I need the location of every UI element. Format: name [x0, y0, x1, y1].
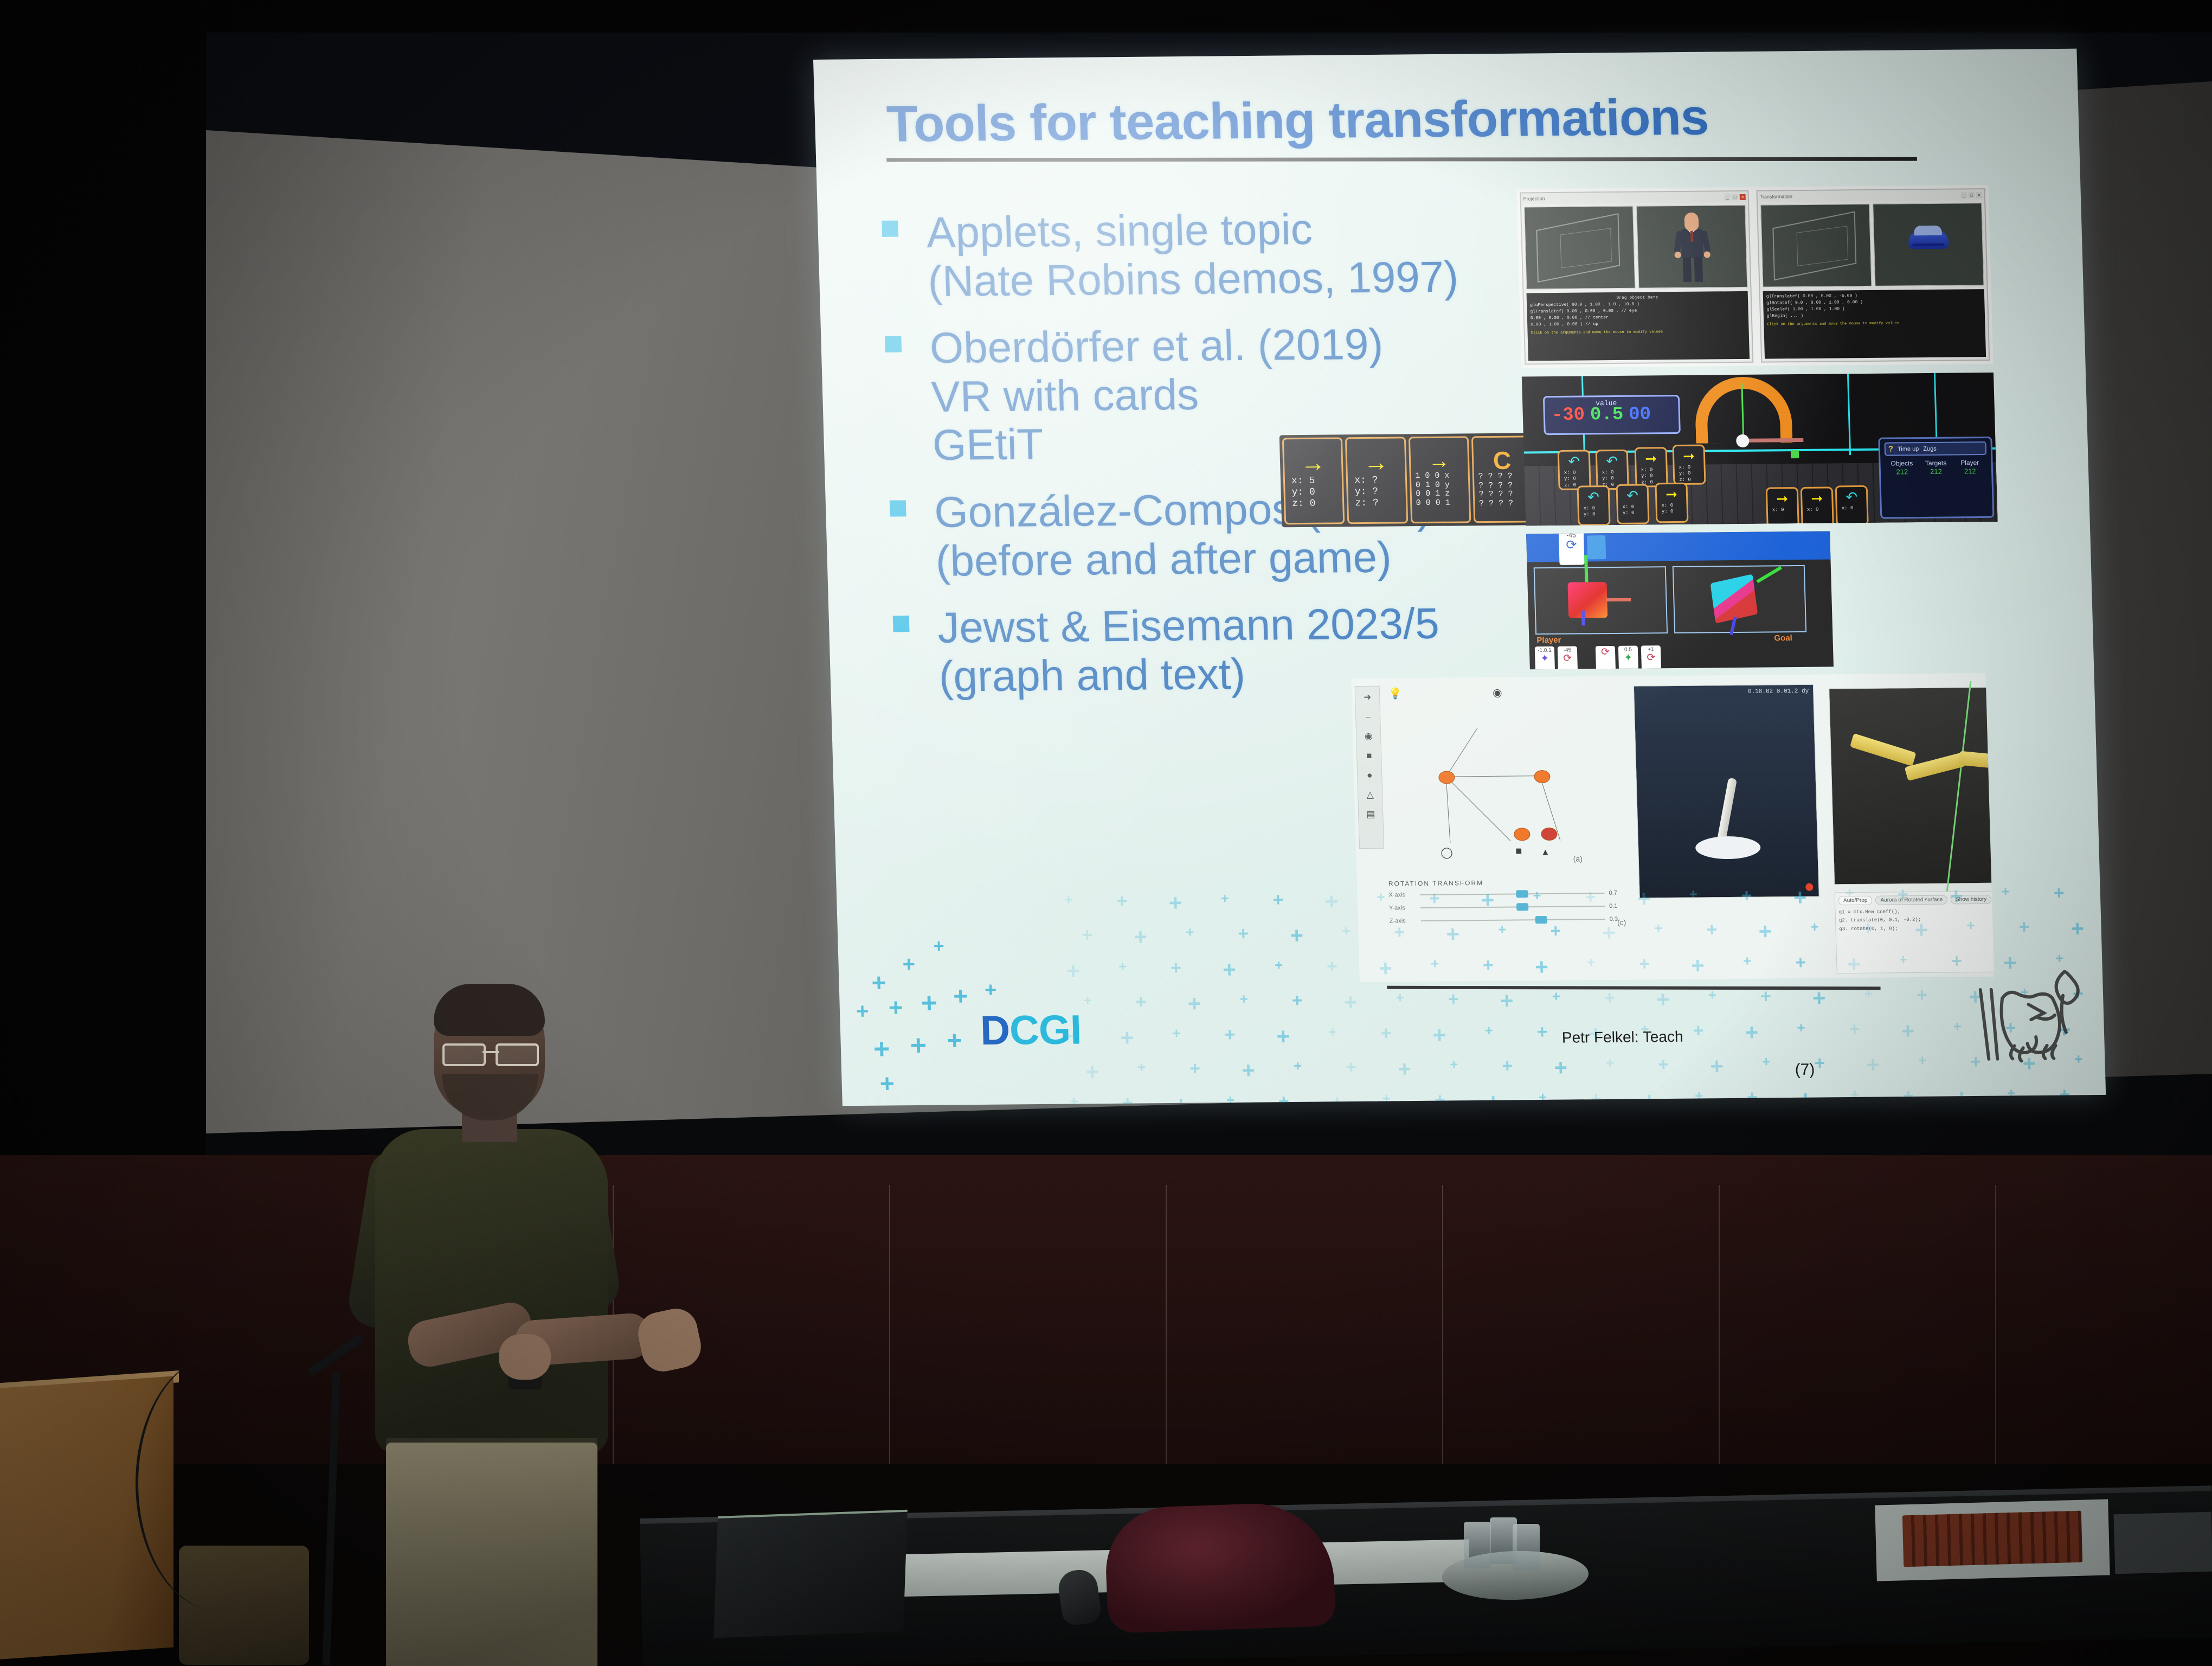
rotate-icon: ↶	[1568, 454, 1580, 469]
plus-glyph: +	[1448, 990, 1459, 1008]
arrow-right-icon: →	[1363, 452, 1388, 472]
plus-glyph: +	[1849, 1020, 1860, 1039]
plus-glyph: +	[1238, 925, 1249, 943]
plus-glyph: +	[1604, 989, 1615, 1007]
hand-card[interactable]: -45⟳	[1558, 646, 1578, 670]
plus-glyph: +	[1552, 989, 1560, 1003]
scoreboard-columns: Objects 212 Targets 212 Player 21	[1885, 459, 1987, 477]
maximize-icon[interactable]: □	[1969, 192, 1975, 198]
camera-node-icon: ◉	[1493, 686, 1502, 700]
napkin	[872, 1549, 1144, 1597]
vr-card[interactable]: ↶ x: 0y: 0	[1616, 484, 1649, 524]
minimize-icon[interactable]: _	[1725, 194, 1731, 200]
window-buttons: _ □ ×	[1961, 192, 1982, 198]
getit-card: → 1 0 0 x 0 1 0 y 0 0 1 z 0 0 0 1	[1408, 436, 1471, 523]
card-row: x: 0	[1622, 504, 1647, 510]
plus-glyph: +	[1656, 988, 1670, 1011]
plus-glyph: +	[2018, 918, 2030, 936]
plus-glyph: +	[1189, 1060, 1201, 1078]
plus-glyph: +	[1291, 991, 1303, 1010]
plus-glyph: +	[1324, 890, 1339, 913]
slider-row: Y-axis 0.1	[1389, 903, 1622, 912]
plus-glyph: +	[1186, 925, 1194, 939]
laptop[interactable]	[713, 1510, 908, 1638]
plus-glyph: +	[1450, 1057, 1458, 1071]
graph-node[interactable]	[1534, 770, 1551, 783]
arrow-right-icon: ➞	[1645, 451, 1657, 465]
plus-glyph: +	[1168, 892, 1182, 914]
matrix-row: 0 0 0 1	[1416, 498, 1467, 508]
combine-icon: C	[1493, 450, 1511, 470]
trousers	[386, 1443, 597, 1666]
plus-glyph: +	[2055, 951, 2064, 965]
chain-segment	[1850, 733, 1917, 766]
vr-card[interactable]: ↶ x: 0y: 0z: 0	[1558, 450, 1591, 490]
plus-glyph: +	[871, 970, 886, 995]
plus-glyph: +	[1918, 1053, 1927, 1067]
plus-glyph: +	[1239, 992, 1248, 1006]
plus-glyph: +	[1082, 926, 1093, 944]
plus-glyph: +	[1085, 1060, 1099, 1083]
plus-glyph: +	[1272, 890, 1284, 909]
plus-glyph: +	[1118, 959, 1127, 973]
plus-glyph: +	[985, 980, 997, 1001]
card-row: x: 0	[1564, 470, 1589, 476]
plus-glyph: +	[1432, 1024, 1446, 1047]
slider-thumb[interactable]	[1516, 903, 1528, 911]
slider-label: X-axis	[1388, 892, 1416, 898]
chocolate-snacks	[1902, 1511, 2082, 1567]
card-row: y: 0	[1623, 510, 1648, 517]
figure-nate-robins-demos: Projection _ □ ×	[1516, 185, 1993, 368]
arrow-right-icon: ➞	[1776, 491, 1789, 505]
tab-autoprop[interactable]: Auto/Prop	[1838, 896, 1873, 906]
card-row: z: 0	[1292, 498, 1341, 509]
eyeglasses-icon	[442, 1043, 539, 1063]
code-line[interactable]: g3. rotate(0, 1, 0);	[1839, 923, 1994, 933]
vr-value-readout: value -30 0.5 00	[1543, 395, 1681, 435]
code-hint: Click on the arguments and move the mous…	[1531, 329, 1745, 336]
matrix-row: 0 1 0 y	[1416, 480, 1467, 490]
hand-card[interactable]: ⟳	[1596, 646, 1616, 669]
card-row: y: 0	[1602, 476, 1627, 482]
hair	[434, 984, 545, 1036]
tab-show-history[interactable]: Show history	[1951, 895, 1992, 905]
hand-card[interactable]: -1.0.1✦	[1535, 646, 1555, 669]
scene-graph-canvas[interactable]: 💡 ◉ ◯ ■ ▴ (a)	[1384, 682, 1622, 863]
box-icon[interactable]: ■	[1366, 751, 1372, 761]
sphere-icon: ◯	[1441, 845, 1453, 859]
projected-slide: Tools for teaching transformations Apple…	[813, 49, 2106, 1106]
matrix-row: ? ? ? ?	[1479, 499, 1530, 508]
subfigure-label: (c)	[1617, 918, 1626, 927]
column-value: 212	[1896, 467, 1908, 476]
getit-card: → x: 5 y: 0 z: 0	[1282, 437, 1345, 524]
plus-glyph: +	[933, 937, 944, 956]
card-row: y: 0	[1291, 486, 1340, 498]
plus-glyph: +	[1328, 1024, 1337, 1039]
column-value: 212	[1964, 467, 1976, 475]
vr-object-bar	[1742, 438, 1803, 443]
scale-icon: ✦	[1540, 653, 1549, 664]
plus-glyph: +	[1137, 1060, 1146, 1074]
plus-glyph: +	[1953, 1019, 1962, 1033]
burgundy-jacket	[1104, 1501, 1336, 1634]
code-panel: Drag object here gluPerspective( 60.0 , …	[1527, 291, 1750, 361]
rotate-icon: ⟳	[1601, 647, 1610, 657]
scoreboard-header: ? Time up Zugs	[1884, 441, 1986, 456]
empty-card-slot[interactable]	[1587, 535, 1606, 559]
game-viewports	[1534, 565, 1807, 635]
plus-glyph: +	[888, 995, 903, 1020]
viewport-eye-view	[1760, 204, 1872, 287]
column-label: Player	[1953, 459, 1987, 467]
matrix-row: 1 0 0 x	[1415, 471, 1466, 480]
help-icon[interactable]: ?	[1888, 445, 1894, 454]
vr-card[interactable]: ↶ x: 0	[1835, 485, 1869, 526]
rotation-transform-panel: ROTATION TRANSFORM X-axis 0.7 Y-axis 0.1…	[1388, 878, 1623, 931]
plus-glyph: +	[1172, 1026, 1181, 1040]
tab-bar: Auto/Prop Aurora of Rotated surface Show…	[1838, 894, 1994, 905]
viewports	[1521, 202, 1751, 291]
vr-card[interactable]: ↶ x: 0y: 0	[1577, 485, 1610, 526]
snack-tray	[2114, 1512, 2212, 1574]
card-row: x: 5	[1291, 476, 1340, 487]
card-row: y: 0	[1679, 471, 1704, 477]
plus-glyph: +	[1901, 1020, 1915, 1042]
light-icon: 💡	[1388, 687, 1403, 700]
lamp-arm	[1717, 778, 1737, 843]
vr-card[interactable]: ➞ x: 0	[1801, 486, 1834, 526]
card-row: x: 0	[1807, 507, 1832, 513]
viewport-goal	[1673, 565, 1806, 633]
logo-letter-d: D	[980, 1008, 1010, 1054]
player-hand: -1.0.1✦ -45⟳ ⟳ 0.5✦ +1⟳	[1535, 645, 1661, 669]
torso	[375, 1129, 608, 1454]
slider-track[interactable]	[1420, 893, 1604, 895]
nate-window-transformation: Transformation _ □ × glTranslatef( 0.00 …	[1756, 188, 1990, 363]
card-row: y: 0	[1584, 511, 1609, 518]
matrix-row: ? ? ? ?	[1478, 472, 1529, 482]
plus-glyph: +	[1502, 1056, 1513, 1075]
bullet-line: Applets, single topic	[926, 203, 1539, 257]
hand-card[interactable]: 0.5✦	[1618, 646, 1638, 670]
logo-letters-cgi: CGI	[1009, 1007, 1082, 1053]
plus-glyph: +	[1343, 991, 1358, 1014]
plus-glyph: +	[1380, 1024, 1392, 1042]
viewport-label-goal: Goal	[1774, 633, 1792, 643]
plus-glyph: +	[1812, 986, 1826, 1009]
plus-glyph: +	[902, 953, 915, 975]
getit-card: → x: ? y: ? z: ?	[1345, 437, 1408, 524]
plus-glyph: +	[1500, 989, 1514, 1012]
presenter	[336, 987, 705, 1666]
plus-glyph: +	[1066, 959, 1081, 982]
guide-line	[1946, 681, 1971, 894]
plus-glyph: +	[1760, 987, 1771, 1005]
rotate-icon: ↶	[1587, 490, 1600, 504]
plus-glyph: +	[1120, 1027, 1134, 1049]
viewport-eye-view	[1524, 206, 1635, 290]
plus-glyph: +	[1223, 958, 1237, 981]
plus-glyph: +	[1064, 893, 1073, 907]
bullet-square-icon	[890, 500, 906, 516]
maximize-icon[interactable]: □	[1732, 194, 1738, 200]
beard	[442, 1074, 538, 1120]
plus-glyph: +	[1294, 1059, 1302, 1073]
readout-z: 00	[1629, 404, 1651, 425]
card-row: y: 0	[1564, 476, 1589, 483]
toon-character	[1675, 213, 1709, 283]
slider-thumb[interactable]	[1535, 916, 1547, 924]
arrow-right-icon: →	[1428, 452, 1450, 470]
matrix-row: 0 0 1 z	[1416, 489, 1467, 498]
plus-glyph: +	[1554, 1056, 1568, 1079]
bullet-line: Jewst & Eisemann 2023/5	[937, 598, 1550, 652]
viewport-3d-lamp: 0.18.02 0.01.2 dy	[1634, 684, 1819, 899]
plus-glyph: +	[1396, 990, 1404, 1004]
card-row: y: ?	[1355, 486, 1404, 497]
plus-glyph: +	[1536, 1023, 1548, 1041]
matrix-row: ? ? ? ?	[1478, 481, 1529, 490]
bullet-line: Oberdörfer et al. (2019)	[929, 318, 1542, 372]
viewport-label-player: Player	[1536, 636, 1561, 645]
object-icon: ■	[1515, 845, 1522, 857]
getit-card-strip: → x: 5 y: 0 z: 0 → x: ? y: ? z: ?	[1279, 433, 1537, 527]
plane-icon: ▴	[1542, 845, 1548, 858]
graph-node[interactable]	[1438, 771, 1455, 784]
readout-x: -30	[1551, 405, 1585, 426]
camera-icon[interactable]: ◉	[1365, 731, 1373, 742]
slide-title: Tools for teaching transformations	[886, 86, 1918, 153]
plus-glyph: +	[1135, 992, 1147, 1011]
score-column: Player 212	[1953, 459, 1988, 477]
slider-label: Y-axis	[1389, 905, 1416, 911]
code-line[interactable]: 0.00 , 1.00 , 0.00 ) // up	[1531, 320, 1745, 328]
window-buttons: _ □ ×	[1725, 194, 1746, 200]
plus-glyph: +	[1083, 993, 1092, 1007]
figure-before-after-game: -45 ⟳ Player Goal -1.0.	[1526, 531, 1834, 670]
viewport-readout: 0.18.02 0.01.2 dy	[1748, 688, 1809, 695]
hand-right	[634, 1305, 705, 1375]
card-row: y: 0	[1662, 509, 1687, 515]
vr-pivot-knob	[1736, 434, 1750, 447]
arrow-right-icon: ➞	[1811, 491, 1823, 505]
rotate-icon: ⟳	[1563, 653, 1572, 664]
dcgi-logo: DCGI	[980, 1006, 1082, 1054]
plus-glyph: +	[921, 989, 938, 1017]
plus-glyph: +	[873, 1035, 890, 1063]
plus-glyph: +	[1187, 992, 1201, 1015]
plus-glyph: +	[1275, 958, 1283, 972]
record-indicator	[1805, 883, 1813, 891]
rotate-icon: ↶	[1846, 490, 1858, 504]
column-value: 212	[1930, 467, 1942, 476]
card-row: y: 0	[1641, 473, 1666, 479]
plus-glyph: +	[1242, 1059, 1256, 1082]
plus-glyph: +	[1171, 959, 1182, 977]
viewport-outside-view	[1873, 203, 1984, 286]
plus-glyph: +	[856, 1001, 869, 1022]
lecture-hall-photo: Tools for teaching transformations Apple…	[0, 0, 2212, 1666]
figure-vr-cards-game: value -30 0.5 00 ↶ x: 0y: 0z: 0 ↶ x: 0y:…	[1522, 373, 1998, 526]
editor-toolbar: ➜ ⎯ ◉ ■ ● △ ▤	[1355, 686, 1384, 849]
slider-value: 0.7	[1609, 890, 1622, 896]
hand-left	[499, 1334, 551, 1380]
played-card[interactable]: -45 ⟳	[1559, 531, 1585, 565]
graph-node[interactable]	[1514, 828, 1531, 841]
plus-glyph: +	[2001, 885, 2010, 899]
car-model	[1908, 230, 1949, 249]
plus-glyph: +	[1484, 1023, 1493, 1037]
vr-scoreboard: ? Time up Zugs Objects 212 Targets	[1878, 437, 1994, 519]
code-line[interactable]: glBegin( ... )	[1767, 311, 1982, 319]
mesh-icon[interactable]: △	[1366, 790, 1374, 800]
cursor-icon[interactable]: ➜	[1364, 692, 1372, 703]
plus-glyph: +	[1797, 1021, 1805, 1035]
column-label: Objects	[1885, 459, 1919, 467]
plus-glyph: +	[910, 1031, 927, 1060]
vr-wall-seam	[1847, 374, 1851, 455]
plus-glyph: +	[1398, 1058, 1412, 1080]
footer-rule	[1387, 986, 1880, 990]
slider-thumb[interactable]	[1516, 890, 1528, 898]
rotate-icon: ⟳	[1647, 652, 1655, 663]
code-hint: Click on the arguments and move the mous…	[1767, 320, 1982, 328]
plus-glyph: +	[1342, 924, 1351, 938]
bullet-line: (Nate Robins demos, 1997)	[927, 252, 1540, 305]
tab-rotated-surface[interactable]: Aurora of Rotated surface	[1875, 895, 1947, 905]
arrow-right-icon: ➞	[1683, 449, 1695, 463]
arrow-right-icon: →	[1300, 452, 1326, 472]
moves-label: Zugs	[1923, 445, 1937, 452]
plus-glyph: +	[1745, 1021, 1759, 1044]
close-icon[interactable]: ×	[1976, 192, 1982, 198]
vr-card[interactable]: ➞ x: 0y: 0	[1655, 483, 1688, 523]
link-icon[interactable]: ⎯	[1366, 712, 1371, 722]
plus-glyph: +	[1708, 988, 1716, 1002]
score-column: Targets 212	[1919, 459, 1953, 477]
panel-title: ROTATION TRANSFORM	[1388, 878, 1622, 888]
readout-y: 0.5	[1590, 405, 1624, 426]
vr-card[interactable]: ➞ x: 0	[1766, 487, 1799, 526]
chain-segment	[1959, 751, 1994, 771]
plus-glyph: +	[953, 983, 968, 1008]
water-glass[interactable]	[1513, 1524, 1540, 1571]
game-card-tray: -45 ⟳	[1526, 531, 1834, 562]
window-title: Projection	[1523, 196, 1545, 201]
plus-glyph: +	[1290, 924, 1304, 947]
vr-card[interactable]: ➞ x: 0y: 0z: 0	[1672, 445, 1706, 485]
water-glass[interactable]	[1464, 1522, 1491, 1568]
plus-glyph: +	[1814, 1054, 1825, 1072]
footer-author: Petr Felkel: Teach	[1561, 1028, 1683, 1047]
plus-glyph: +	[1134, 925, 1148, 948]
minimize-icon[interactable]: _	[1961, 192, 1967, 198]
plus-glyph: +	[947, 1028, 962, 1054]
hand-card[interactable]: +1⟳	[1641, 645, 1661, 669]
column-label: Targets	[1919, 459, 1953, 467]
plus-glyph: +	[1916, 986, 1927, 1004]
title-underline	[886, 157, 1917, 162]
plus-glyph: +	[879, 1071, 895, 1095]
card-row: x: 0	[1602, 470, 1627, 476]
nate-window-projection: Projection _ □ ×	[1520, 190, 1753, 365]
bullet-square-icon	[882, 221, 898, 237]
subfigure-label: (a)	[1573, 854, 1583, 863]
sphere-icon[interactable]: ●	[1367, 770, 1373, 781]
vr-card[interactable]: ➞ x: 0y: 0z: 0	[1635, 447, 1668, 487]
card-row: x: 0	[1842, 505, 1867, 512]
card-row: x: ?	[1354, 475, 1403, 486]
bullet-square-icon	[885, 336, 902, 353]
vr-goal-marker	[1791, 450, 1799, 458]
slider-label: Z-axis	[1390, 918, 1417, 924]
viewport-player	[1534, 566, 1668, 635]
plus-glyph: +	[1606, 1056, 1615, 1070]
slider-track[interactable]	[1421, 919, 1605, 921]
window-title: Transformation	[1760, 194, 1792, 200]
graph-node[interactable]	[1541, 828, 1558, 841]
rotate-icon: ↶	[1606, 454, 1618, 468]
slide-number: (7)	[1795, 1061, 1815, 1079]
plus-glyph: +	[1762, 1054, 1771, 1068]
plus-glyph: +	[1693, 1021, 1704, 1040]
bullet-line: (before and after game)	[935, 531, 1548, 585]
list-item: Applets, single topic (Nate Robins demos…	[882, 203, 1540, 306]
timer-label: Time up	[1898, 446, 1919, 452]
plus-glyph: +	[1346, 1058, 1357, 1077]
card-row: z: ?	[1355, 497, 1404, 509]
matrix-row: ? ? ? ?	[1478, 490, 1529, 499]
plus-glyph: +	[1658, 1055, 1669, 1074]
rotate-icon: ↶	[1626, 489, 1639, 503]
score-column: Objects 212	[1885, 459, 1919, 477]
slider-track[interactable]	[1420, 906, 1605, 908]
close-icon[interactable]: ×	[1740, 194, 1746, 200]
card-row: x: 0	[1661, 503, 1686, 509]
slider-value: 0.1	[1609, 903, 1622, 909]
layers-icon[interactable]: ▤	[1366, 809, 1375, 820]
plus-glyph: +	[1224, 1026, 1236, 1044]
code-panel: glTranslatef( 0.00 , 0.00 , -5.00 ) glRo…	[1763, 289, 1986, 359]
scale-icon: ✦	[1624, 653, 1632, 663]
card-row: x: 0	[1772, 507, 1797, 514]
viewports	[1758, 200, 1987, 289]
card-row: x: 0	[1679, 465, 1703, 471]
slider-row: Z-axis 0.3	[1390, 916, 1623, 925]
readout-label: value	[1596, 399, 1617, 407]
plus-glyph: +	[1220, 891, 1229, 905]
rotate-icon: ⟳	[1566, 539, 1577, 552]
plus-glyph: +	[2053, 884, 2065, 902]
plus-glyph: +	[1327, 957, 1338, 976]
ctu-lion-emblem-icon	[1964, 965, 2098, 1074]
slider-row: X-axis 0.7	[1388, 890, 1622, 899]
lamp-base	[1695, 836, 1761, 860]
bullet-line: VR with cards	[930, 367, 1544, 421]
code-panel: Auto/Prop Aurora of Rotated surface Show…	[1835, 890, 1994, 973]
plus-glyph: +	[1866, 1054, 1880, 1077]
viewport-3d-chain	[1829, 687, 1994, 885]
plus-glyph: +	[1116, 892, 1128, 911]
plus-glyph: +	[1276, 1025, 1290, 1048]
arrow-right-icon: ➞	[1666, 487, 1678, 501]
card-row: x: 0	[1584, 505, 1609, 512]
card-row: x: 0	[1641, 467, 1666, 473]
figure-graph-and-text: ➜ ⎯ ◉ ■ ● △ ▤ 💡 ◉	[1351, 673, 1994, 982]
plus-glyph: +	[2070, 917, 2085, 940]
